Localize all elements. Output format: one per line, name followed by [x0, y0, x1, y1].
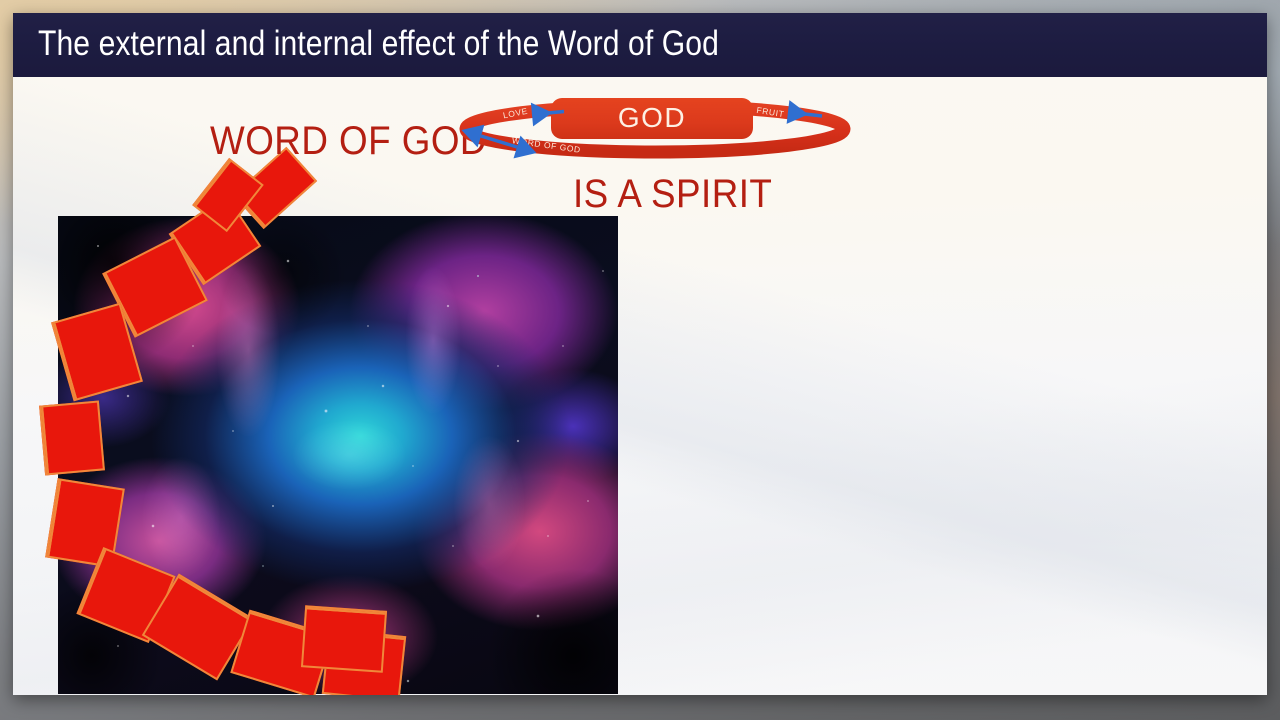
- word-of-god-heading: WORD OF GOD: [210, 119, 487, 164]
- slide-canvas: The external and internal effect of the …: [13, 13, 1267, 695]
- god-center-box: GOD: [551, 98, 753, 139]
- page-title: The external and internal effect of the …: [38, 24, 719, 64]
- arc-tile[interactable]: [301, 605, 387, 673]
- god-spirit-cycle-diagram[interactable]: GOD LOVE FRUIT WORD OF GOD: [459, 97, 855, 159]
- arc-tile[interactable]: [39, 401, 105, 476]
- is-a-spirit-heading: IS A SPIRIT: [573, 172, 772, 217]
- slide-frame: The external and internal effect of the …: [0, 0, 1280, 720]
- slide-title-bar: The external and internal effect of the …: [13, 13, 1267, 77]
- god-label: GOD: [618, 102, 686, 133]
